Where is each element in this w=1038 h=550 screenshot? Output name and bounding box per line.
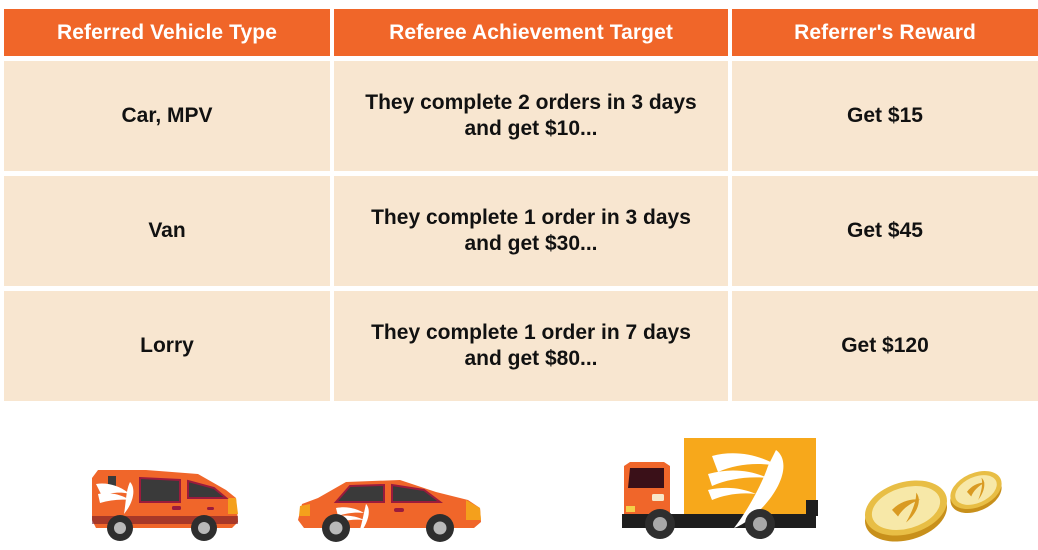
cell-vehicle-type: Van: [4, 176, 330, 286]
table-row: Car, MPV They complete 2 orders in 3 day…: [4, 61, 1038, 171]
table-body: Car, MPV They complete 2 orders in 3 day…: [4, 61, 1038, 401]
target-line-1: They complete 1 order in 7 days: [371, 321, 691, 344]
table-row: Van They complete 1 order in 3 days and …: [4, 176, 1038, 286]
cell-referrer-reward: Get $15: [732, 61, 1038, 171]
table-header-row: Referred Vehicle Type Referee Achievemen…: [4, 9, 1038, 56]
target-line-2: and get $30...: [464, 232, 597, 255]
coin-small: [944, 466, 1007, 521]
lorry-icon: [608, 432, 826, 542]
table-row: Lorry They complete 1 order in 7 days an…: [4, 291, 1038, 401]
cell-achievement-target: They complete 1 order in 7 days and get …: [334, 291, 728, 401]
reward-table: Referred Vehicle Type Referee Achievemen…: [0, 4, 1038, 406]
vehicle-illustration-strip: [0, 418, 1038, 550]
cell-achievement-target: They complete 2 orders in 3 days and get…: [334, 61, 728, 171]
target-line-2: and get $10...: [464, 117, 597, 140]
cell-achievement-target: They complete 1 order in 3 days and get …: [334, 176, 728, 286]
cell-vehicle-type: Car, MPV: [4, 61, 330, 171]
gold-coins-icon: [858, 466, 1014, 546]
cell-vehicle-type: Lorry: [4, 291, 330, 401]
target-line-2: and get $80...: [464, 347, 597, 370]
column-header-referrer-reward: Referrer's Reward: [732, 9, 1038, 56]
target-line-1: They complete 1 order in 3 days: [371, 206, 691, 229]
cell-referrer-reward: Get $120: [732, 291, 1038, 401]
cell-referrer-reward: Get $45: [732, 176, 1038, 286]
coin-large: [858, 471, 953, 546]
target-line-1: They complete 2 orders in 3 days: [365, 91, 696, 114]
column-header-achievement-target: Referee Achievement Target: [334, 9, 728, 56]
car-icon: [288, 470, 488, 546]
column-header-vehicle-type: Referred Vehicle Type: [4, 9, 330, 56]
van-icon: [86, 454, 246, 546]
